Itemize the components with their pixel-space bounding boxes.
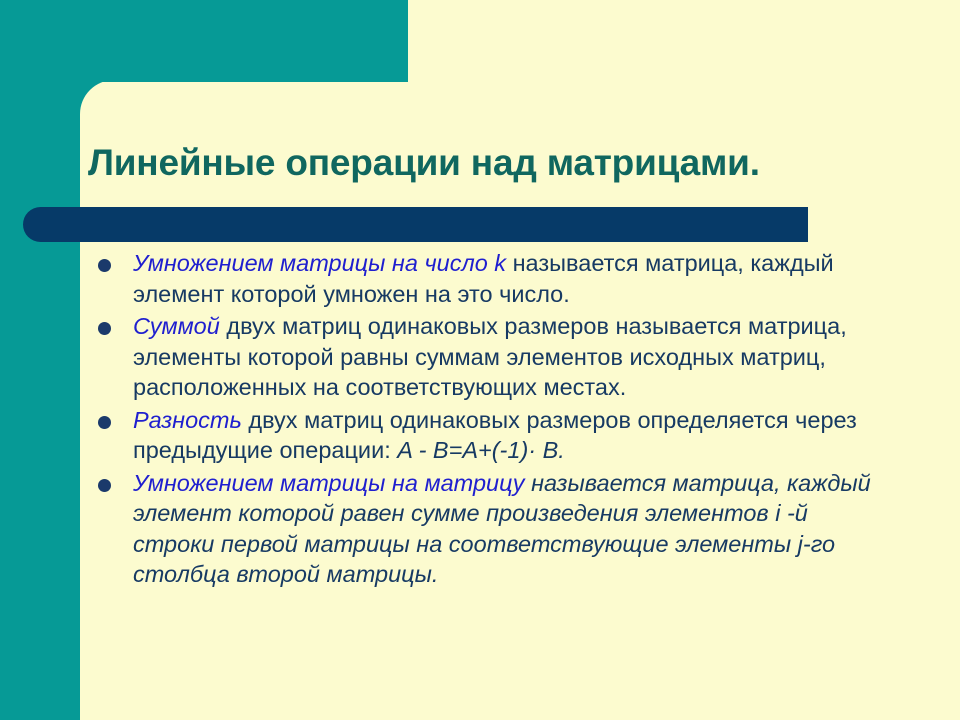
list-item: Умножением матрицы на матрицу называется…: [88, 468, 888, 590]
difference-formula: A - B=A+(-1)· B.: [397, 437, 565, 463]
bullet-lead-text: Разность: [133, 407, 242, 433]
bullet-lead-text: Умножением матрицы на число k: [133, 250, 506, 276]
title-underline-bar: [23, 207, 808, 242]
list-item: Суммой двух матриц одинаковых размеров н…: [88, 311, 888, 403]
bullet-lead-text: Суммой: [133, 313, 220, 339]
bullet-lead-text: Умножением матрицы на матрицу: [133, 470, 525, 496]
left-teal-band: [0, 0, 80, 720]
bullet-body-text: двух матриц одинаковых размеров называет…: [133, 313, 847, 400]
top-right-cream-block: [408, 0, 960, 90]
bullet-dot-icon: [98, 259, 111, 272]
list-item: Разность двух матриц одинаковых размеров…: [88, 405, 888, 466]
bullet-list: Умножением матрицы на число k называется…: [88, 248, 888, 592]
slide: Линейные операции над матрицами. Умножен…: [0, 0, 960, 720]
bullet-dot-icon: [98, 416, 111, 429]
bullet-dot-icon: [98, 322, 111, 335]
bullet-dot-icon: [98, 479, 111, 492]
list-item: Умножением матрицы на число k называется…: [88, 248, 888, 309]
slide-title: Линейные операции над матрицами.: [88, 141, 928, 185]
